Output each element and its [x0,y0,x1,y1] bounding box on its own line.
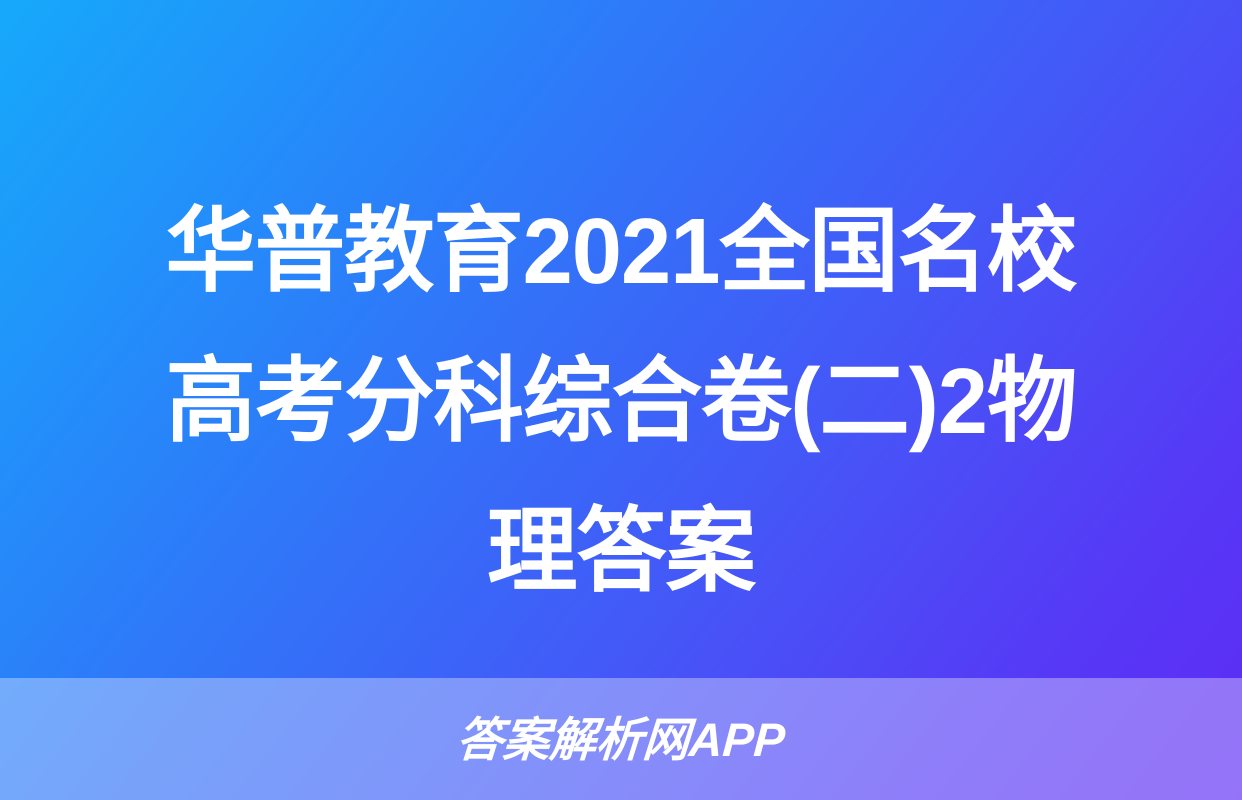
page-title: 华普教育2021全国名校 高考分科综合卷(二)2物 理答案 [0,176,1242,626]
title-line-1: 华普教育2021全国名校 [19,176,1224,326]
title-line-2: 高考分科综合卷(二)2物 [19,326,1224,476]
poster-canvas: 华普教育2021全国名校 高考分科综合卷(二)2物 理答案 答案解析网APP [0,0,1242,800]
watermark-label: 答案解析网APP [455,716,787,763]
watermark-band: 答案解析网APP [0,678,1242,800]
title-line-3: 理答案 [19,476,1224,626]
